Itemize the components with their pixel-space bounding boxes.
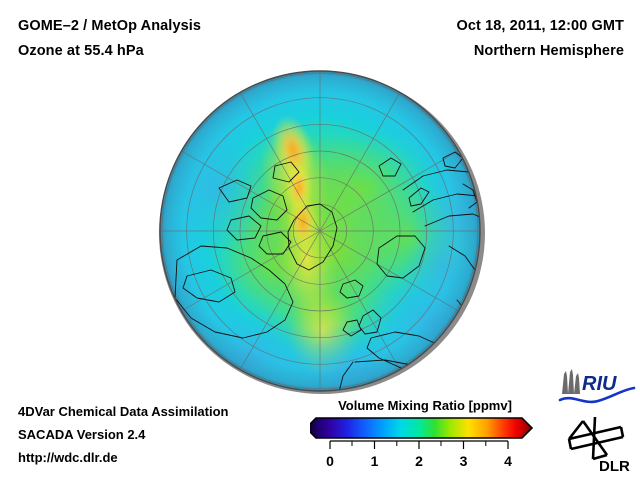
- colorbar-title: Volume Mixing Ratio [ppmv]: [310, 398, 540, 413]
- colorbar-gradient: [310, 418, 532, 438]
- orthographic-projection: [157, 70, 487, 396]
- timestamp-label: Oct 18, 2011, 12:00 GMT: [456, 14, 624, 39]
- dlr-logo-text: DLR: [599, 458, 630, 475]
- colorbar-tick-1: 1: [371, 453, 379, 469]
- riu-logo-icon: RIU: [558, 368, 636, 408]
- globe-map: [157, 70, 487, 396]
- colorbar-tick-3: 3: [460, 453, 468, 469]
- region-label: Northern Hemisphere: [456, 39, 624, 64]
- page-subtitle: Ozone at 55.4 hPa: [18, 39, 201, 64]
- dlr-logo: DLR: [563, 409, 637, 475]
- header-left: GOME–2 / MetOp Analysis Ozone at 55.4 hP…: [18, 14, 201, 64]
- riu-logo: RIU: [558, 368, 636, 408]
- colorbar-tick-2: 2: [415, 453, 423, 469]
- figure-canvas: GOME–2 / MetOp Analysis Ozone at 55.4 hP…: [0, 0, 640, 480]
- page-title: GOME–2 / MetOp Analysis: [18, 14, 201, 39]
- dlr-mark-icon: [569, 417, 623, 459]
- colorbar-scale: 0 1 2 3 4: [310, 416, 540, 470]
- colorbar-tick-0: 0: [326, 453, 334, 469]
- riu-towers-icon: [562, 369, 580, 394]
- credit-line-url: http://wdc.dlr.de: [18, 446, 229, 469]
- credit-line-version: SACADA Version 2.4: [18, 423, 229, 446]
- dlr-logo-icon: DLR: [563, 409, 637, 475]
- riu-logo-text: RIU: [582, 373, 617, 395]
- colorbar-axis: [330, 441, 508, 449]
- colorbar-tick-4: 4: [504, 453, 512, 469]
- header-right: Oct 18, 2011, 12:00 GMT Northern Hemisph…: [456, 14, 624, 64]
- colorbar: Volume Mixing Ratio [ppmv]: [310, 398, 540, 470]
- footer-credits: 4DVar Chemical Data Assimilation SACADA …: [18, 400, 229, 469]
- credit-line-method: 4DVar Chemical Data Assimilation: [18, 400, 229, 423]
